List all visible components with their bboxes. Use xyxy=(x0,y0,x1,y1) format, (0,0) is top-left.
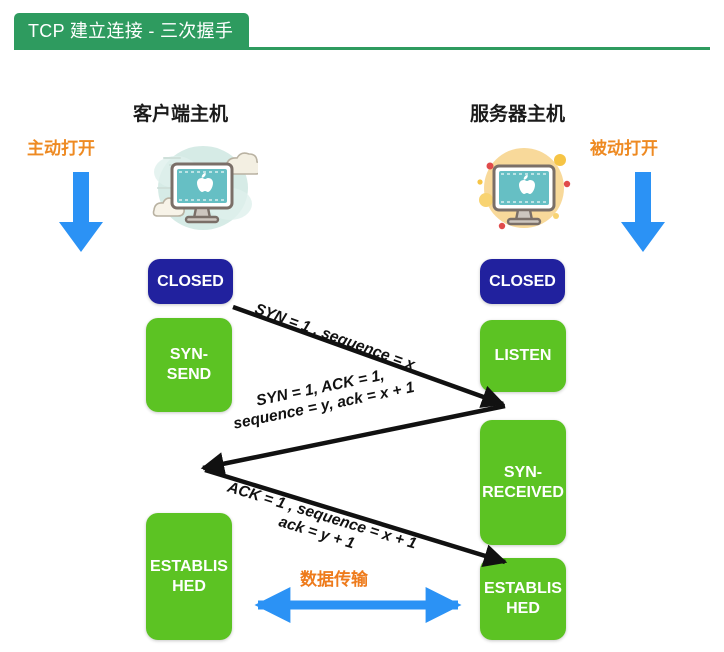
server-state-syn-received-line2: RECEIVED xyxy=(482,484,564,501)
title-tab: TCP 建立连接 - 三次握手 xyxy=(14,13,249,47)
client-state-established-label: ESTABLIS HED xyxy=(150,557,228,596)
passive-open-down-arrow xyxy=(611,172,675,259)
client-computer-icon xyxy=(146,138,258,243)
active-open-label: 主动打开 xyxy=(27,134,95,159)
server-state-closed-label: CLOSED xyxy=(489,272,556,292)
client-state-syn-send-line1: SYN- xyxy=(170,346,208,363)
message-label-ack: ACK = 1 , sequence = x + 1 ack = y + 1 xyxy=(220,479,419,572)
server-state-established-line1: ESTABLIS xyxy=(484,580,562,597)
client-state-established-line2: HED xyxy=(172,578,206,595)
server-computer-icon xyxy=(468,138,580,243)
client-state-closed-label: CLOSED xyxy=(157,272,224,292)
client-state-syn-send: SYN- SEND xyxy=(146,318,232,412)
passive-open-label: 被动打开 xyxy=(590,134,658,159)
server-state-established-line2: HED xyxy=(506,600,540,617)
client-state-established: ESTABLIS HED xyxy=(146,513,232,640)
client-state-established-line1: ESTABLIS xyxy=(150,558,228,575)
diagram-canvas: TCP 建立连接 - 三次握手 客户端主机 服务器主机 主动打开 被动打开 xyxy=(0,0,724,652)
server-column-heading: 服务器主机 xyxy=(470,99,565,126)
server-state-listen-label: LISTEN xyxy=(495,346,552,366)
page-title: TCP 建立连接 - 三次握手 xyxy=(28,17,233,43)
server-state-closed: CLOSED xyxy=(480,259,565,304)
client-state-syn-send-label: SYN- SEND xyxy=(167,345,211,384)
server-state-syn-received-label: SYN- RECEIVED xyxy=(482,463,564,502)
message-label-syn-line1: SYN = 1 , sequence = x xyxy=(252,301,417,374)
server-state-syn-received: SYN- RECEIVED xyxy=(480,420,566,545)
client-state-syn-send-line2: SEND xyxy=(167,366,211,383)
client-state-closed: CLOSED xyxy=(148,259,233,304)
server-state-established: ESTABLIS HED xyxy=(480,558,566,640)
data-transfer-label: 数据传输 xyxy=(300,565,368,590)
server-state-established-label: ESTABLIS HED xyxy=(484,579,562,618)
server-state-listen: LISTEN xyxy=(480,320,566,392)
title-underline-rule xyxy=(14,47,710,50)
server-state-syn-received-line1: SYN- xyxy=(504,464,542,481)
client-column-heading: 客户端主机 xyxy=(133,99,228,126)
active-open-down-arrow xyxy=(49,172,113,259)
message-label-syn-ack: SYN = 1, ACK = 1, sequence = y, ack = x … xyxy=(228,361,416,434)
